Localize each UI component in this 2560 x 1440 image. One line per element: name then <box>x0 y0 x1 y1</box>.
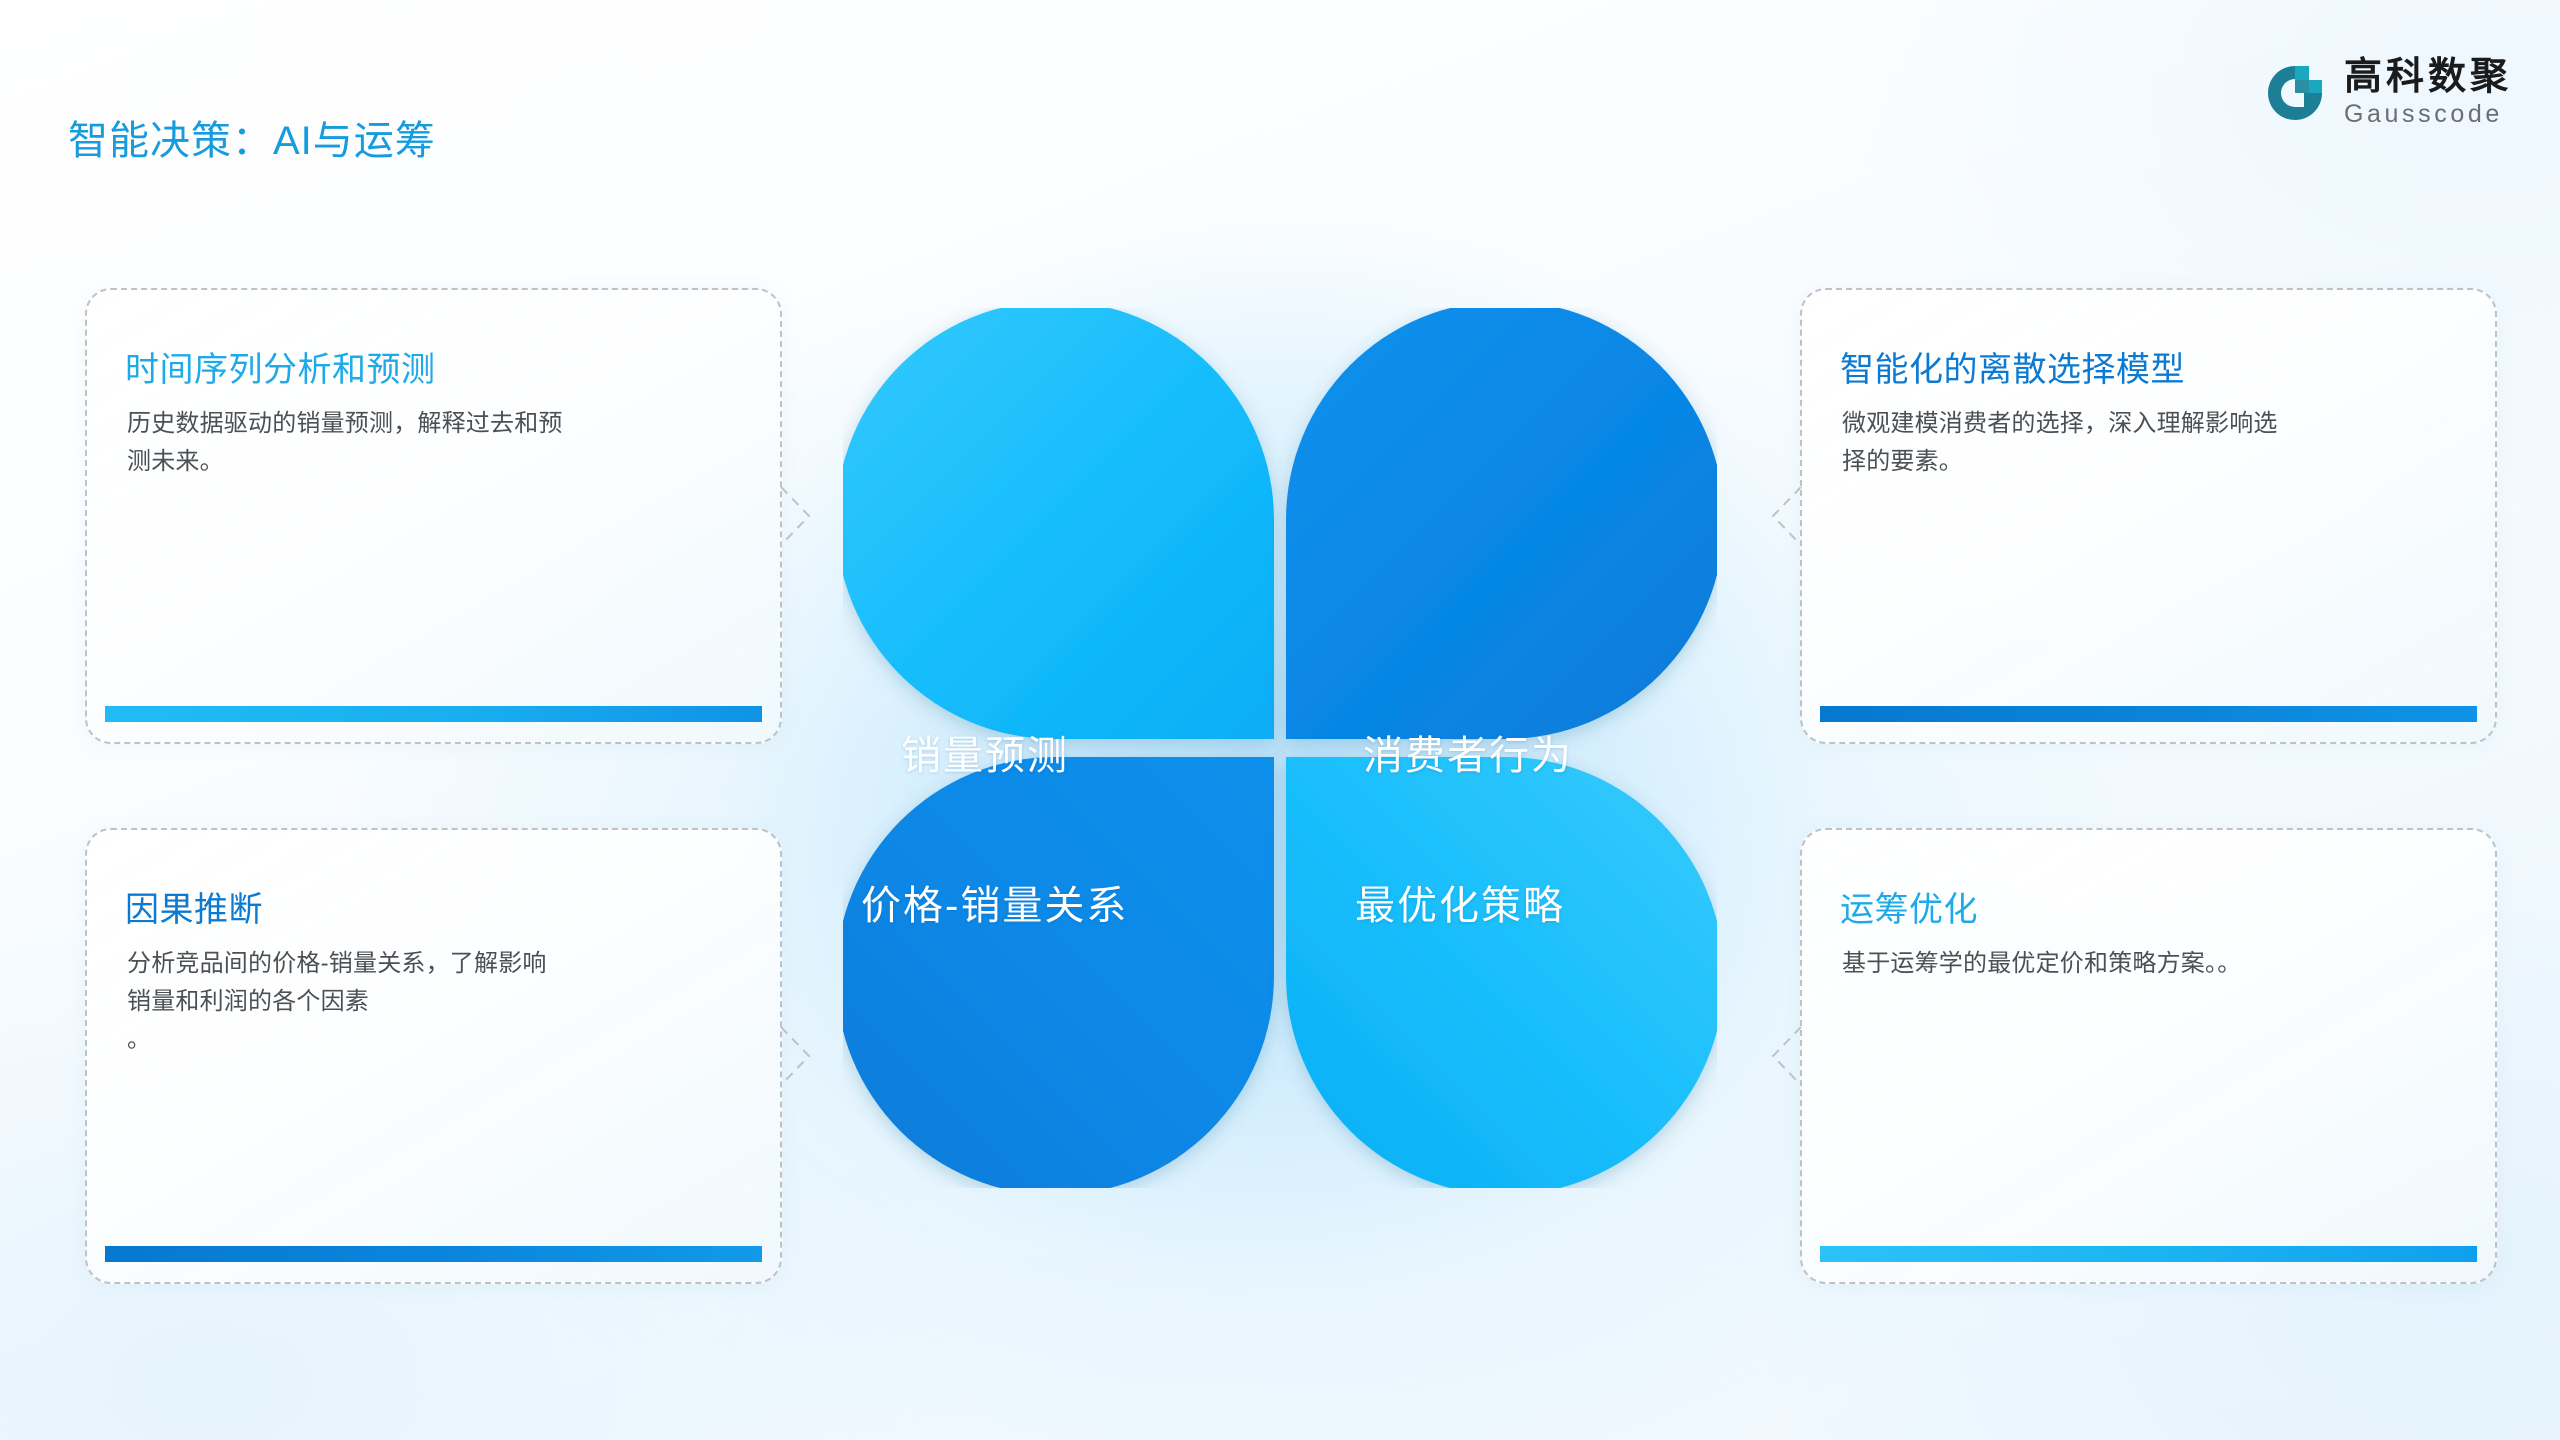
card-accent-bar <box>1820 1246 2477 1262</box>
petal-top-right[interactable] <box>1286 308 1717 739</box>
gausscode-logo-icon <box>2264 62 2326 124</box>
card-body: 基于运筹学的最优定价和策略方案。。 <box>1842 945 2452 983</box>
card-discrete-choice[interactable]: 智能化的离散选择模型 微观建模消费者的选择，深入理解影响选 择的要素。 <box>1800 288 2497 744</box>
card-time-series[interactable]: 时间序列分析和预测 历史数据驱动的销量预测，解释过去和预 测未来。 <box>85 288 782 744</box>
page-title: 智能决策：AI与运筹 <box>68 108 436 166</box>
card-accent-bar <box>1820 706 2477 722</box>
card-accent-bar <box>105 706 762 722</box>
four-petal-diagram: 销量预测 消费者行为 价格-销量关系 最优化策略 <box>843 308 1717 1188</box>
petal-bottom-right[interactable] <box>1286 757 1717 1188</box>
card-accent-bar <box>105 1246 762 1262</box>
brand-logo: 高科数聚 Gausscode <box>2264 58 2512 127</box>
card-causal-inference[interactable]: 因果推断 分析竞品间的价格-销量关系，了解影响 销量和利润的各个因素 。 <box>85 828 782 1284</box>
petal-label-top-left: 销量预测 <box>901 723 1069 781</box>
petal-label-top-right: 消费者行为 <box>1363 723 1573 781</box>
card-title: 因果推断 <box>125 882 263 931</box>
card-body: 分析竞品间的价格-销量关系，了解影响 销量和利润的各个因素 。 <box>127 945 737 1059</box>
petal-top-left[interactable] <box>843 308 1274 739</box>
card-title: 时间序列分析和预测 <box>125 342 436 391</box>
card-operations-optimization[interactable]: 运筹优化 基于运筹学的最优定价和策略方案。。 <box>1800 828 2497 1284</box>
logo-wordmark: 高科数聚 Gausscode <box>2344 58 2512 127</box>
logo-name-cn: 高科数聚 <box>2344 58 2512 96</box>
card-body: 微观建模消费者的选择，深入理解影响选 择的要素。 <box>1842 405 2452 481</box>
logo-name-en: Gausscode <box>2344 102 2512 127</box>
petal-label-bottom-left: 价格-销量关系 <box>861 873 1128 931</box>
card-body: 历史数据驱动的销量预测，解释过去和预 测未来。 <box>127 405 737 481</box>
petal-label-bottom-right: 最优化策略 <box>1355 873 1565 931</box>
card-title: 运筹优化 <box>1840 882 1978 931</box>
petal-bottom-left[interactable] <box>843 757 1274 1188</box>
card-title: 智能化的离散选择模型 <box>1840 342 2185 391</box>
